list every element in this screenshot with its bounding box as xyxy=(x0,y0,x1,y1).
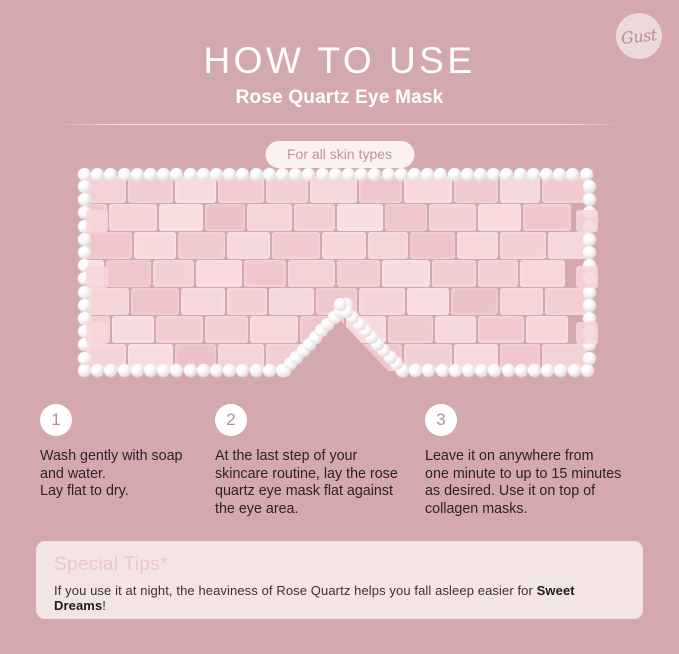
steps-list: 1 Wash gently with soap and water. Lay f… xyxy=(0,404,679,524)
infographic-page: Gust HOW TO USE Rose Quartz Eye Mask For… xyxy=(0,0,679,654)
step-text: Wash gently with soap and water. Lay fla… xyxy=(40,448,220,501)
step-item: 1 Wash gently with soap and water. Lay f… xyxy=(40,404,220,501)
step-number: 2 xyxy=(215,404,247,436)
special-tips-title: Special Tips* xyxy=(54,554,625,576)
step-number: 3 xyxy=(425,404,457,436)
page-subtitle: Rose Quartz Eye Mask xyxy=(0,87,679,109)
special-tips-body: If you use it at night, the heaviness of… xyxy=(54,583,625,613)
special-tips-card: Special Tips* If you use it at night, th… xyxy=(36,541,643,619)
step-number: 1 xyxy=(40,404,72,436)
product-image xyxy=(78,168,598,390)
step-text: Leave it on anywhere from one minute to … xyxy=(425,448,640,518)
tips-text-tail: ! xyxy=(102,598,106,613)
step-item: 2 At the last step of your skincare rout… xyxy=(215,404,430,518)
skin-type-badge: For all skin types xyxy=(265,141,414,168)
tips-text-lead: If you use it at night, the heaviness of… xyxy=(54,583,537,598)
step-item: 3 Leave it on anywhere from one minute t… xyxy=(425,404,640,518)
step-text: At the last step of your skincare routin… xyxy=(215,448,430,518)
page-title: HOW TO USE xyxy=(0,40,679,82)
header-divider xyxy=(58,124,621,125)
